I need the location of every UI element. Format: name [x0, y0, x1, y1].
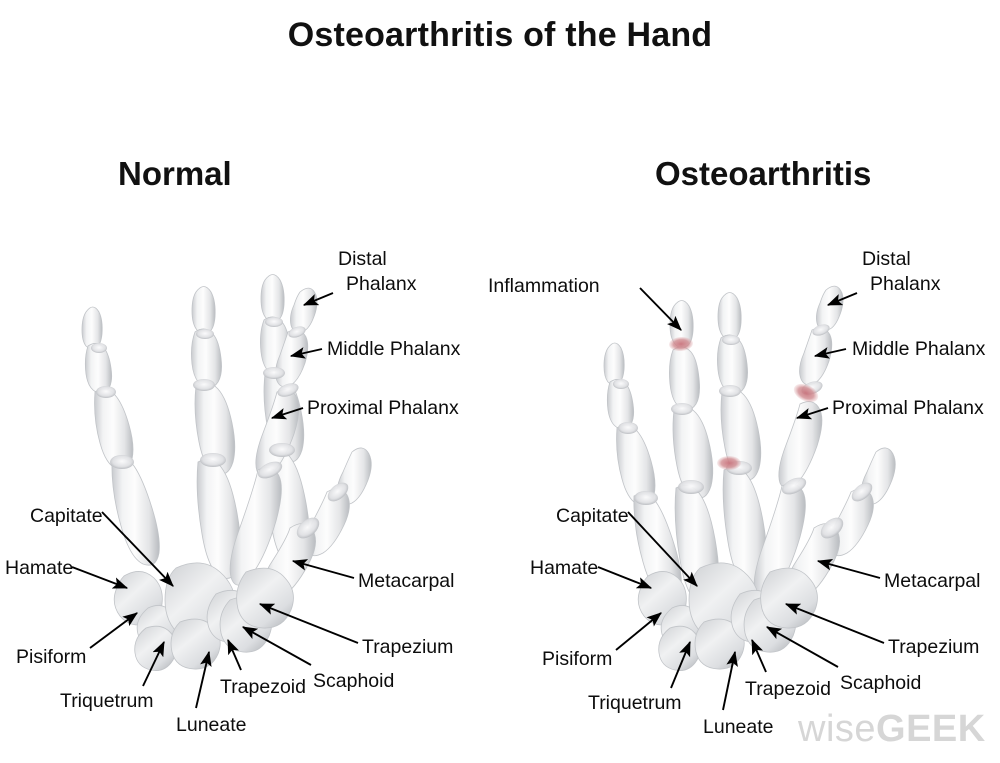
watermark-wise: wise — [798, 708, 876, 750]
label-line: Distal — [862, 247, 940, 272]
label-osteoarthritis-middle-phalanx: Middle Phalanx — [852, 338, 985, 361]
label-normal-triquetrum: Triquetrum — [60, 690, 154, 713]
label-line: Metacarpal — [358, 570, 454, 593]
label-line: Trapezium — [888, 636, 979, 659]
diagram-canvas: Osteoarthritis of the Hand Normal Osteoa… — [0, 0, 1000, 763]
label-osteoarthritis-triquetrum: Triquetrum — [588, 692, 682, 715]
label-normal-metacarpal: Metacarpal — [358, 570, 454, 593]
label-line: Middle Phalanx — [327, 338, 460, 361]
label-line: Luneate — [176, 714, 247, 737]
label-osteoarthritis-scaphoid: Scaphoid — [840, 672, 921, 695]
label-line: Metacarpal — [884, 570, 980, 593]
label-osteoarthritis-hamate: Hamate — [530, 557, 598, 580]
label-osteoarthritis-trapezium: Trapezium — [888, 636, 979, 659]
label-line: Triquetrum — [588, 692, 682, 715]
label-line: Phalanx — [338, 272, 416, 297]
label-line: Pisiform — [16, 646, 86, 669]
label-line: Triquetrum — [60, 690, 154, 713]
watermark-geek: GEEK — [876, 708, 986, 750]
hand-skeleton-osteoarthritis — [0, 0, 1000, 763]
label-osteoarthritis-distal-phalanx: DistalPhalanx — [862, 247, 940, 297]
label-line: Proximal Phalanx — [832, 397, 984, 420]
label-line: Trapezium — [362, 636, 453, 659]
inflammation-spot-pip-joint-middle — [717, 456, 741, 470]
label-line: Capitate — [30, 505, 103, 528]
label-line: Scaphoid — [840, 672, 921, 695]
label-osteoarthritis-capitate: Capitate — [556, 505, 629, 528]
label-normal-scaphoid: Scaphoid — [313, 670, 394, 693]
label-normal-capitate: Capitate — [30, 505, 103, 528]
label-line: Phalanx — [862, 272, 940, 297]
label-osteoarthritis-metacarpal: Metacarpal — [884, 570, 980, 593]
label-normal-pisiform: Pisiform — [16, 646, 86, 669]
label-line: Luneate — [703, 716, 774, 739]
label-normal-distal-phalanx: DistalPhalanx — [338, 247, 416, 297]
label-line: Distal — [338, 247, 416, 272]
label-osteoarthritis-pisiform: Pisiform — [542, 648, 612, 671]
label-osteoarthritis-proximal-phalanx: Proximal Phalanx — [832, 397, 984, 420]
label-normal-trapezoid: Trapezoid — [220, 676, 306, 699]
label-line: Middle Phalanx — [852, 338, 985, 361]
label-line: Hamate — [5, 557, 73, 580]
label-osteoarthritis-trapezoid: Trapezoid — [745, 678, 831, 701]
label-line: Pisiform — [542, 648, 612, 671]
label-normal-hamate: Hamate — [5, 557, 73, 580]
label-line: Inflammation — [488, 275, 600, 298]
label-normal-trapezium: Trapezium — [362, 636, 453, 659]
label-line: Capitate — [556, 505, 629, 528]
label-osteoarthritis-inflammation: Inflammation — [488, 275, 600, 298]
label-osteoarthritis-luneate: Luneate — [703, 716, 774, 739]
label-line: Scaphoid — [313, 670, 394, 693]
label-line: Trapezoid — [745, 678, 831, 701]
label-normal-luneate: Luneate — [176, 714, 247, 737]
label-line: Trapezoid — [220, 676, 306, 699]
label-normal-middle-phalanx: Middle Phalanx — [327, 338, 460, 361]
label-normal-proximal-phalanx: Proximal Phalanx — [307, 397, 459, 420]
wisegeek-watermark: wiseGEEK — [798, 708, 986, 751]
label-line: Proximal Phalanx — [307, 397, 459, 420]
label-line: Hamate — [530, 557, 598, 580]
